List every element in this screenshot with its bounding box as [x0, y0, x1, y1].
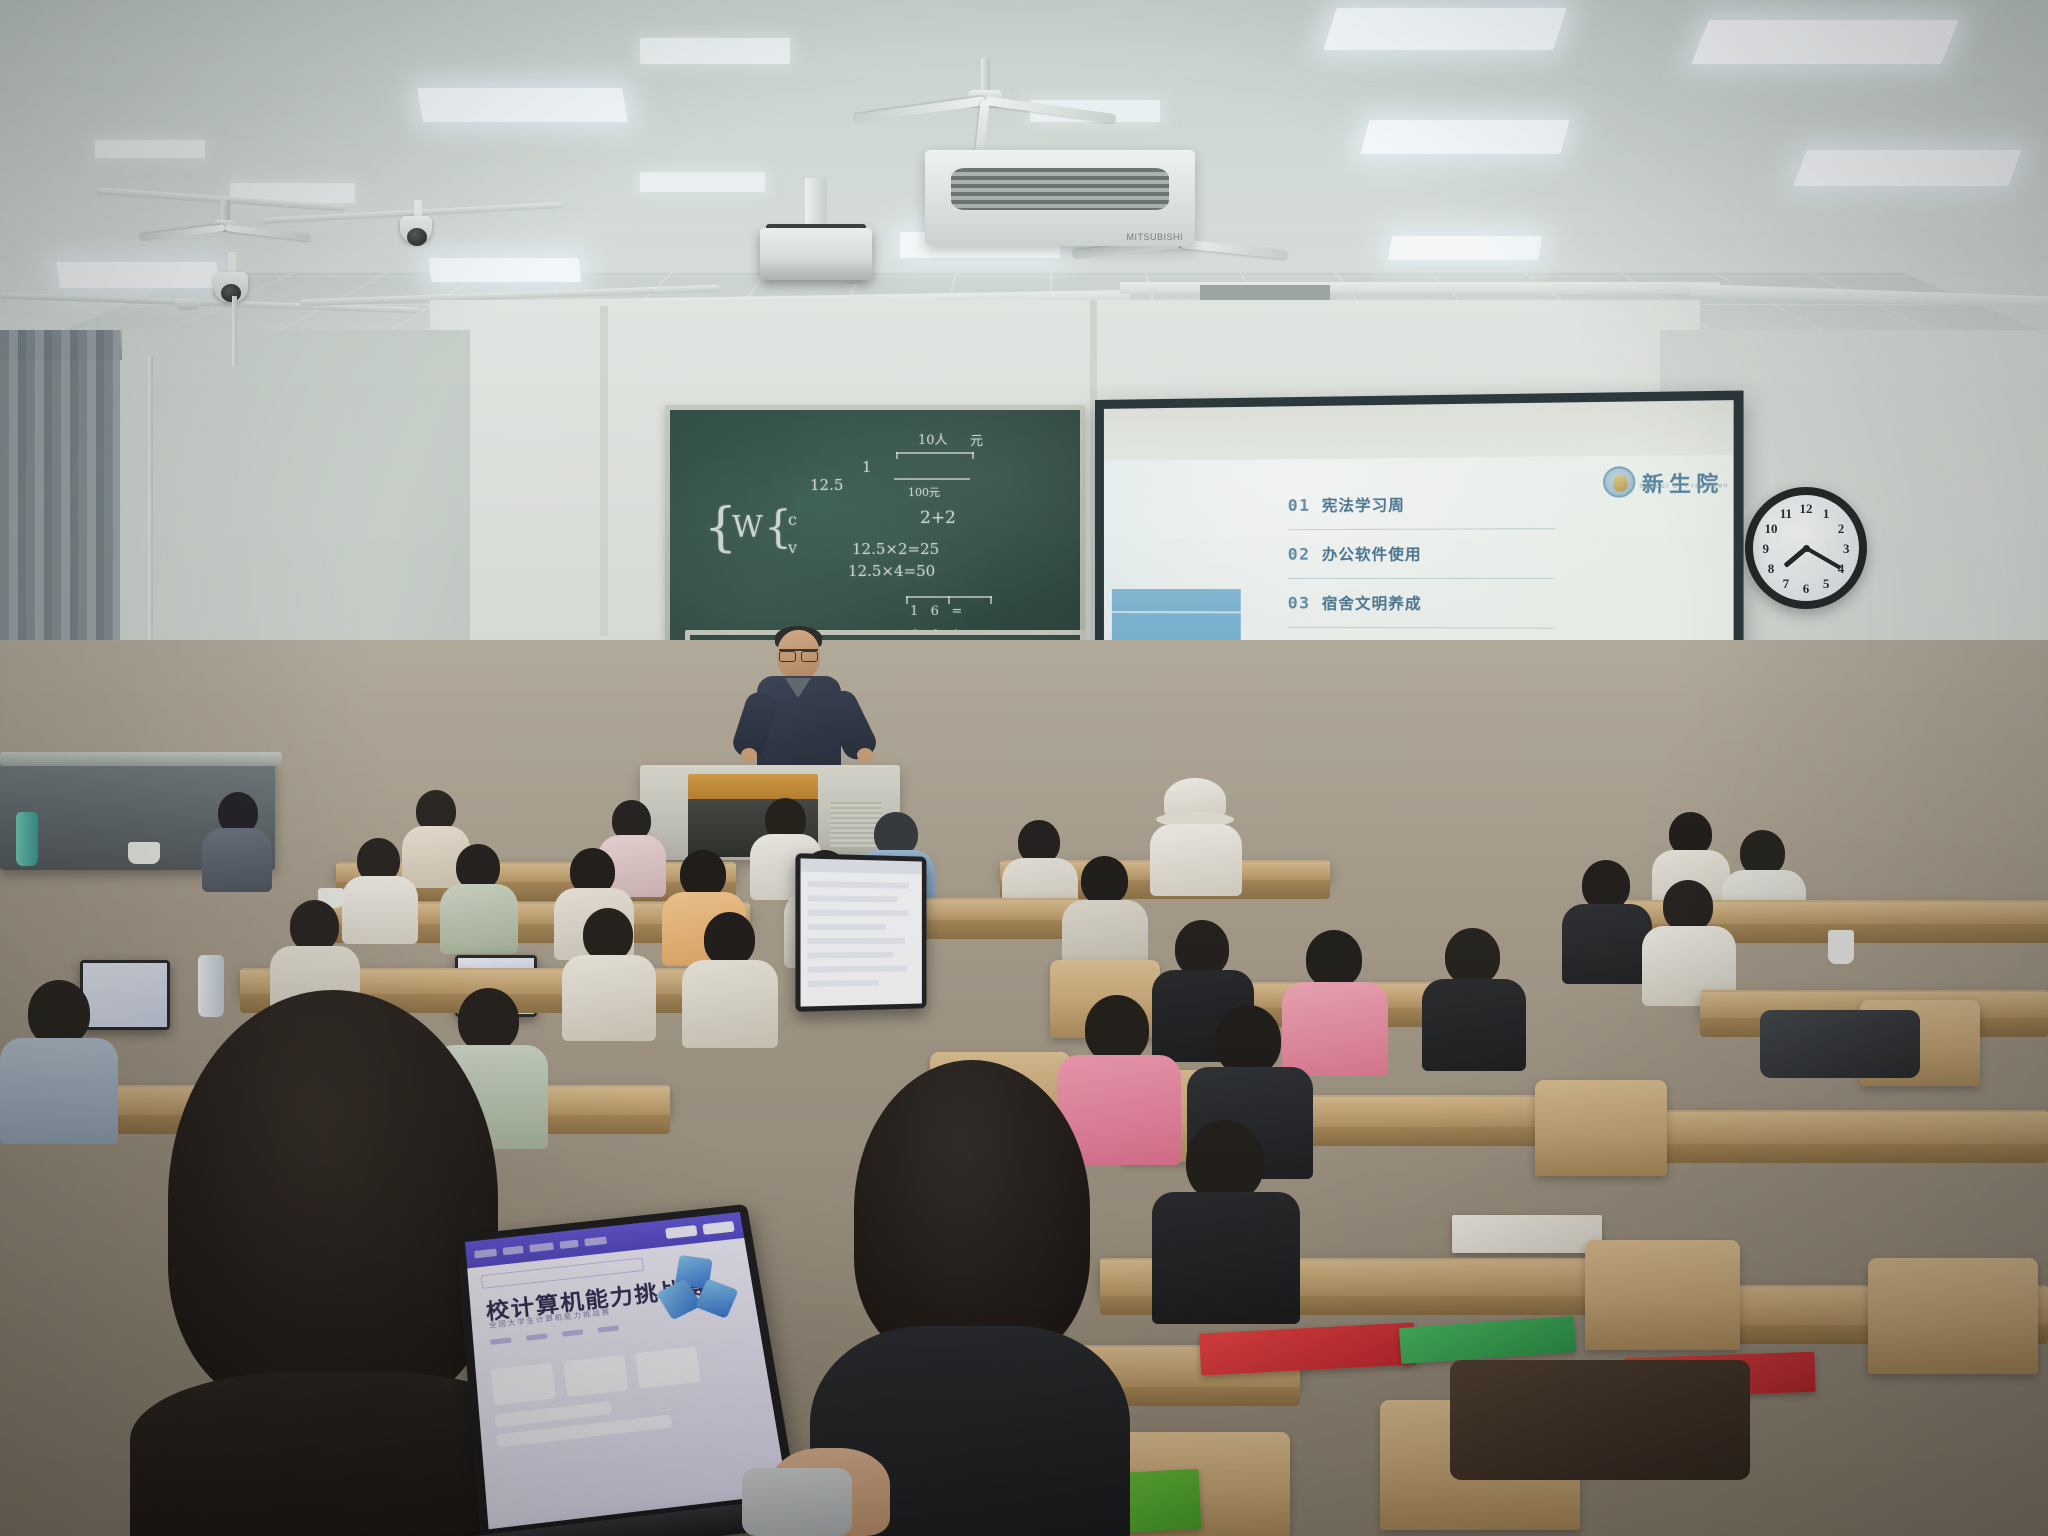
- student-head: [704, 912, 755, 966]
- chalk-top-note2: 元: [970, 430, 983, 449]
- content-line: [808, 965, 907, 972]
- clock-number: 10: [1765, 521, 1778, 537]
- student-body: [0, 1038, 118, 1144]
- item-label: 宪法学习周: [1322, 494, 1405, 516]
- site-tab-row[interactable]: [490, 1325, 619, 1345]
- content-line: [808, 938, 905, 944]
- ac-vent: [951, 168, 1169, 210]
- student-head: [680, 850, 726, 898]
- content-line: [808, 952, 894, 959]
- lectern-wood-panel: [688, 774, 818, 799]
- chalk-tick: [906, 596, 908, 604]
- security-camera-icon: [400, 216, 432, 243]
- chalk-c: c: [788, 510, 797, 529]
- clock-number: 5: [1823, 576, 1830, 592]
- content-line: [808, 881, 909, 889]
- item-label: 宿舍文明养成: [1322, 592, 1422, 614]
- student-body: [1422, 979, 1526, 1071]
- chalk-top-note: 10人: [918, 429, 948, 448]
- site-tab[interactable]: [526, 1333, 547, 1341]
- student: [1060, 856, 1148, 970]
- water-bottle: [16, 812, 38, 866]
- lecture-hall-photo: MITSUBISHI 12 1 2 3 4 5 6 7 8 9 10 11: [0, 0, 2048, 1536]
- chalk-value: 12.5: [810, 476, 843, 494]
- chalk-tick: [948, 596, 950, 604]
- seat-back: [1868, 1258, 2038, 1374]
- student-body: [562, 955, 656, 1041]
- paper-cup: [1828, 930, 1854, 964]
- slide-contents-item: 03 宿舍文明养成: [1288, 579, 1555, 629]
- student-hair: [168, 990, 498, 1410]
- item-number: 03: [1288, 593, 1311, 612]
- clock-number: 6: [1803, 581, 1810, 597]
- register-button[interactable]: [702, 1221, 735, 1235]
- ceiling-light-panel: [1323, 8, 1567, 50]
- chalk-bracket: [894, 478, 970, 480]
- laptop-screen: [801, 858, 922, 1006]
- site-tab[interactable]: [598, 1325, 619, 1333]
- glasses-icon: [779, 649, 818, 658]
- ceiling-light-panel: [1360, 120, 1569, 154]
- student: [680, 912, 778, 1044]
- slide-logo: 新生院: [1603, 465, 1724, 497]
- chalk-underline: [896, 452, 898, 459]
- clock-number: 2: [1838, 521, 1845, 537]
- student: [1640, 880, 1736, 1000]
- item-number: 02: [1288, 544, 1311, 563]
- student-head: [1186, 1120, 1264, 1202]
- student-body: [1152, 1192, 1300, 1324]
- ceiling-light-panel: [1388, 236, 1542, 260]
- logo-cube-graphic: [657, 1253, 737, 1325]
- seat-back: [1585, 1240, 1740, 1350]
- nav-item[interactable]: [529, 1242, 554, 1252]
- student: [200, 792, 272, 886]
- student: [438, 844, 518, 948]
- clock-number: 9: [1762, 541, 1769, 557]
- student: [1560, 860, 1652, 978]
- item-number: 01: [1288, 496, 1311, 515]
- student-laptop[interactable]: [795, 853, 926, 1012]
- student-body: [440, 884, 518, 954]
- ceiling-light-panel: [640, 38, 790, 64]
- laptop-screen[interactable]: 校计算机能力挑战赛 全国大学生计算机能力挑战赛: [465, 1212, 788, 1529]
- ceiling-projector: [760, 178, 872, 283]
- content-card[interactable]: [635, 1346, 701, 1388]
- nav-item[interactable]: [559, 1239, 578, 1248]
- content-card[interactable]: [563, 1355, 628, 1398]
- teacher-hand: [857, 748, 873, 762]
- chalk-calc2: 12.5×4=50: [848, 562, 935, 580]
- student-head: [1663, 880, 1713, 932]
- student-head: [1215, 1005, 1281, 1075]
- student-body: [1562, 904, 1652, 984]
- ceiling-light-panel: [95, 140, 205, 158]
- content-line: [808, 910, 909, 917]
- ceiling-light-panel: [1691, 20, 1959, 64]
- clock-minute-hand: [1805, 546, 1842, 569]
- security-camera-icon: [214, 272, 248, 302]
- chalk-bracket: [906, 596, 992, 598]
- clock-number: 1: [1823, 506, 1830, 522]
- student-body: [682, 960, 778, 1048]
- paper-cup: [128, 842, 160, 864]
- ceiling-light-panel: [640, 172, 765, 192]
- student-head: [1085, 995, 1149, 1063]
- content-line: [808, 980, 879, 987]
- slide-contents-item: 01 宪法学习周: [1288, 479, 1555, 530]
- chalk-underline: [972, 452, 974, 459]
- item-label: 办公软件使用: [1322, 543, 1422, 565]
- content-line: [808, 895, 898, 902]
- leather-bag: [1450, 1360, 1750, 1480]
- student-head: [1445, 928, 1500, 985]
- chalk-row: 1 6 =: [910, 604, 962, 619]
- nav-item[interactable]: [584, 1236, 607, 1246]
- student-hair: [854, 1060, 1090, 1360]
- nav-item[interactable]: [503, 1245, 524, 1255]
- clock-number: 12: [1800, 501, 1813, 517]
- slide-logo-text: 新生院: [1642, 466, 1724, 497]
- wall-conduit: [232, 296, 237, 366]
- ceiling-light-panel: [1793, 150, 2021, 186]
- slide-box-line-top: [1112, 611, 1241, 613]
- air-conditioner-unit: MITSUBISHI: [925, 150, 1195, 246]
- school-emblem-icon: [1603, 466, 1635, 498]
- seat-back: [1535, 1080, 1667, 1176]
- clock-number: 3: [1843, 541, 1850, 557]
- chalk-brace2: {: [764, 502, 792, 553]
- student-head: [28, 980, 90, 1046]
- ceiling-light-panel: [417, 88, 628, 122]
- student-head: [1081, 856, 1128, 905]
- site-tab[interactable]: [490, 1337, 511, 1345]
- sleeve-cuff: [742, 1468, 852, 1536]
- student: [1150, 1120, 1300, 1320]
- chalk-w: W: [732, 510, 763, 545]
- wall-panel-seam: [600, 306, 608, 636]
- nav-item[interactable]: [474, 1248, 497, 1258]
- chalk-underline: [896, 452, 974, 454]
- student-body: [1150, 824, 1242, 896]
- content-line: [808, 924, 886, 930]
- wall-clock: 12 1 2 3 4 5 6 7 8 9 10 11: [1745, 487, 1867, 609]
- student-head: [1306, 930, 1362, 988]
- chalk-small-note: 100元: [908, 484, 940, 500]
- chalk-tick: [990, 596, 992, 604]
- login-button[interactable]: [665, 1225, 697, 1239]
- student: [560, 908, 656, 1036]
- clock-number: 8: [1768, 561, 1775, 577]
- desk-row: [1640, 1110, 2048, 1146]
- ceiling-light-panel: [429, 258, 582, 282]
- student-head: [583, 908, 633, 961]
- smoke-detector-icon: [175, 298, 201, 310]
- screen-top-band: [1104, 400, 1734, 461]
- student-head: [1582, 860, 1630, 910]
- site-tab[interactable]: [562, 1329, 583, 1337]
- chalk-sum: 2+2: [920, 508, 956, 528]
- student: [1420, 928, 1526, 1068]
- chalk-calc1: 12.5×2=25: [852, 540, 939, 558]
- ac-brand-label: MITSUBISHI: [1126, 232, 1183, 242]
- wall-conduit: [148, 355, 153, 645]
- chalk-brace: {: [704, 498, 737, 558]
- student: [0, 980, 120, 1140]
- ceiling-light-panel: [56, 262, 220, 288]
- side-cabinet-top: [0, 752, 282, 766]
- notebook: [1452, 1215, 1602, 1253]
- laptop-lid: [795, 853, 926, 1012]
- teacher-hand: [741, 748, 757, 762]
- student-head: [1175, 920, 1229, 977]
- student-with-hat: [1148, 778, 1244, 888]
- clock-number: 11: [1780, 506, 1792, 522]
- chalk-mid-note: 1: [862, 458, 872, 476]
- slide-logo-subtext: School of Freshmen: [1639, 483, 1729, 490]
- browser-toolbar: [801, 858, 922, 874]
- student-body: [202, 828, 272, 892]
- content-card[interactable]: [491, 1363, 556, 1406]
- backpack: [1760, 1010, 1920, 1078]
- clock-center-hub: [1803, 545, 1810, 552]
- student-head: [290, 900, 339, 952]
- clock-face: 12 1 2 3 4 5 6 7 8 9 10 11: [1753, 495, 1859, 601]
- chalk-v: v: [788, 538, 797, 557]
- clock-number: 7: [1783, 576, 1790, 592]
- slide-contents-item: 02 办公软件使用: [1288, 529, 1555, 579]
